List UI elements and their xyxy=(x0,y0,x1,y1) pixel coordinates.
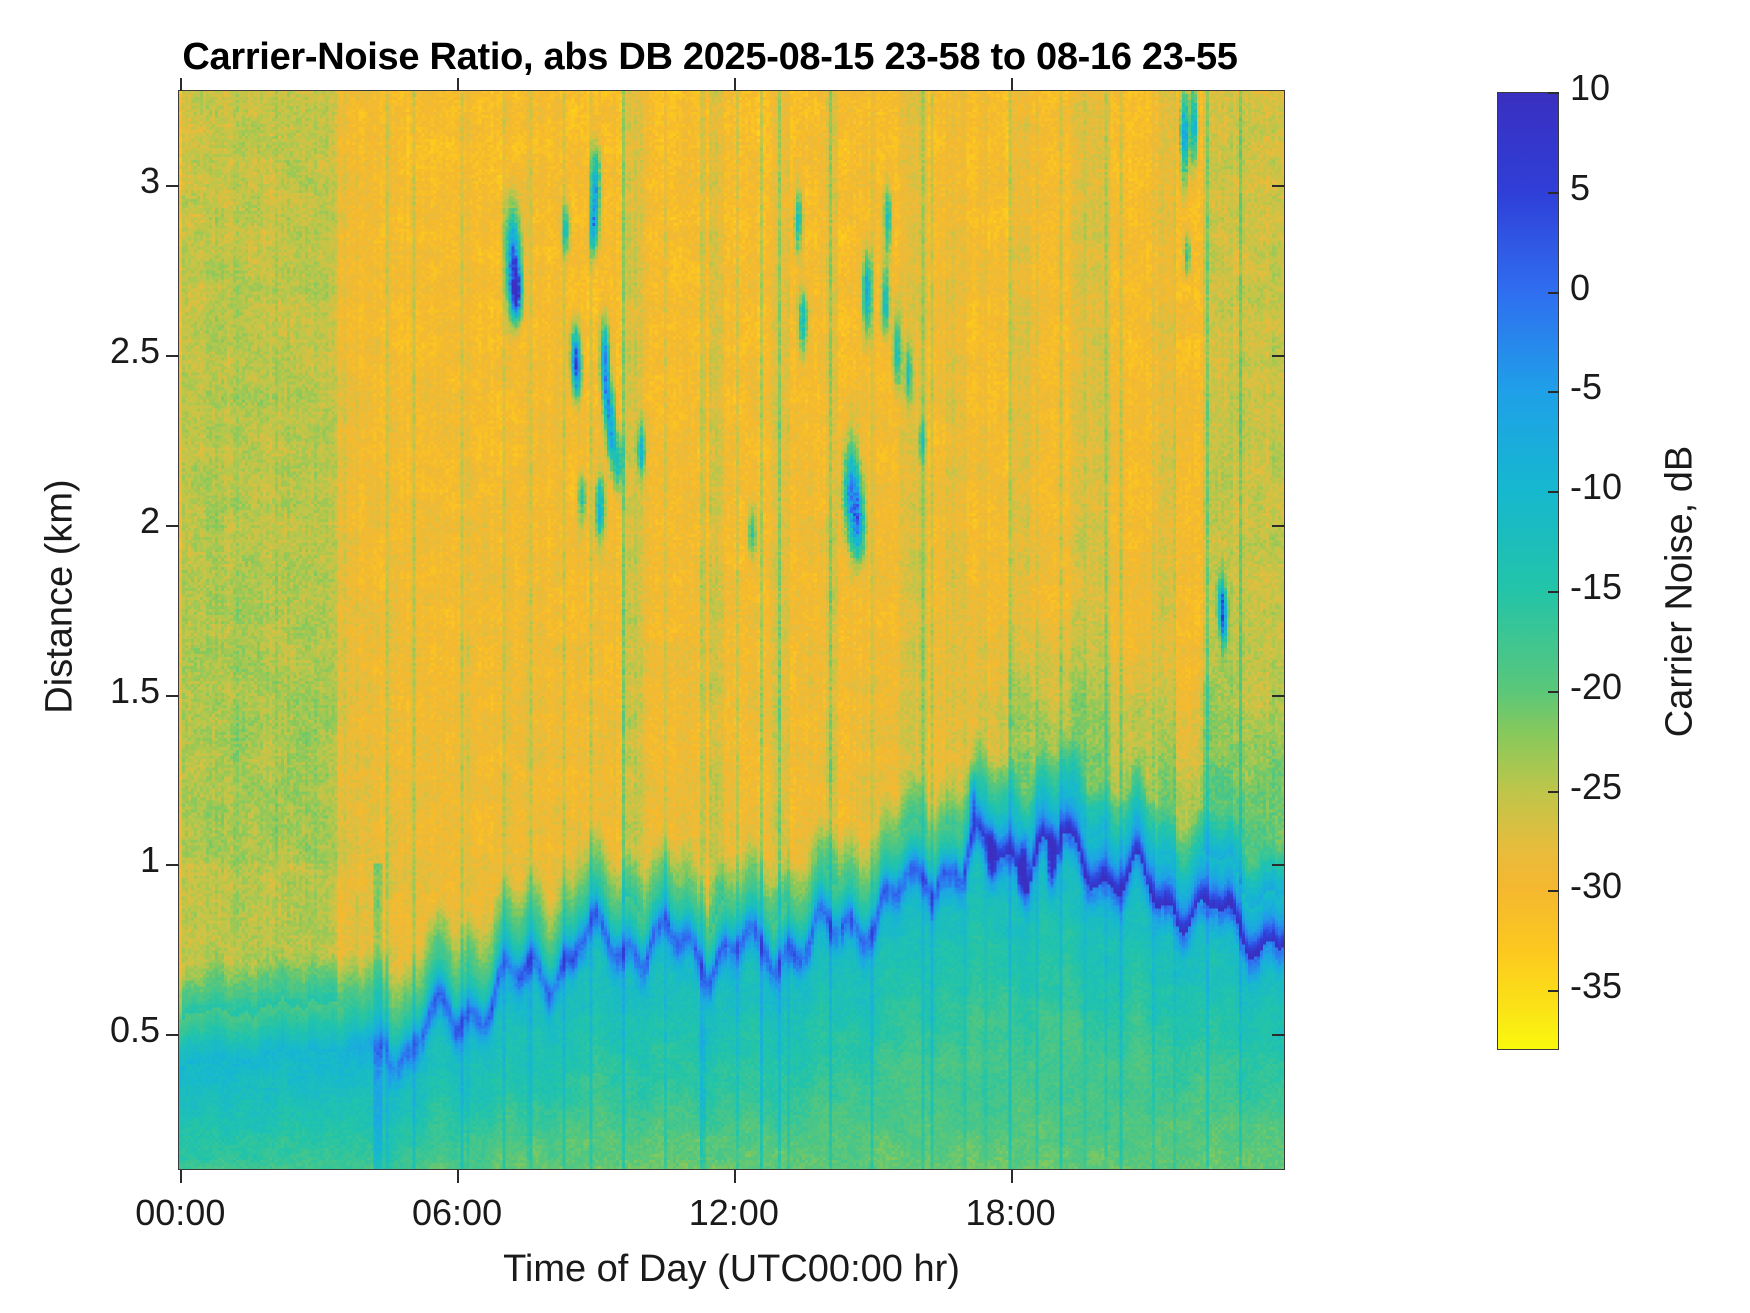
colorbar-tick-mark xyxy=(1548,192,1559,194)
colorbar-tick-label: -25 xyxy=(1570,766,1622,808)
x-tick-mark-top xyxy=(180,78,182,91)
colorbar-tick-label: -5 xyxy=(1570,366,1602,408)
colorbar-tick-mark xyxy=(1548,292,1559,294)
x-tick-mark-top xyxy=(1011,78,1013,91)
y-axis-label: Distance (km) xyxy=(39,317,82,877)
y-tick-mark-right xyxy=(1272,695,1285,697)
y-tick-mark-right xyxy=(1272,1034,1285,1036)
x-tick-label: 12:00 xyxy=(614,1192,854,1234)
y-tick-mark xyxy=(166,864,179,866)
colorbar-tick-mark xyxy=(1548,890,1559,892)
y-tick-mark xyxy=(166,525,179,527)
x-tick-mark-top xyxy=(457,78,459,91)
colorbar-tick-mark xyxy=(1548,391,1559,393)
colorbar-tick-label: -15 xyxy=(1570,566,1622,608)
colorbar-tick-label: 10 xyxy=(1570,67,1610,109)
chart-title: Carrier-Noise Ratio, abs DB 2025-08-15 2… xyxy=(0,36,1420,79)
colorbar-tick-mark xyxy=(1548,491,1559,493)
x-tick-mark xyxy=(180,1170,182,1183)
y-tick-mark xyxy=(166,1034,179,1036)
colorbar-tick-label: -30 xyxy=(1570,865,1622,907)
colorbar-tick-mark xyxy=(1548,691,1559,693)
heatmap-plot-area[interactable] xyxy=(178,90,1285,1170)
y-tick-mark xyxy=(166,355,179,357)
colorbar-tick-label: 0 xyxy=(1570,267,1590,309)
x-tick-mark-top xyxy=(734,78,736,91)
colorbar-tick-mark xyxy=(1548,791,1559,793)
y-tick-mark-right xyxy=(1272,185,1285,187)
x-tick-label: 00:00 xyxy=(60,1192,300,1234)
x-tick-mark xyxy=(734,1170,736,1183)
x-tick-mark xyxy=(1011,1170,1013,1183)
colorbar-tick-mark xyxy=(1548,92,1559,94)
y-tick-mark xyxy=(166,695,179,697)
y-tick-label: 3 xyxy=(40,160,160,202)
colorbar-tick-mark xyxy=(1548,990,1559,992)
colorbar-tick-label: 5 xyxy=(1570,167,1590,209)
y-tick-mark-right xyxy=(1272,864,1285,866)
colorbar-tick-label: -20 xyxy=(1570,666,1622,708)
colorbar-tick-label: -35 xyxy=(1570,965,1622,1007)
x-tick-label: 06:00 xyxy=(337,1192,577,1234)
colorbar-tick-mark xyxy=(1548,591,1559,593)
x-tick-label: 18:00 xyxy=(891,1192,1131,1234)
x-tick-mark xyxy=(457,1170,459,1183)
colorbar-tick-label: -10 xyxy=(1570,466,1622,508)
x-axis-label: Time of Day (UTC00:00 hr) xyxy=(178,1248,1285,1291)
y-tick-mark xyxy=(166,185,179,187)
heatmap-image xyxy=(179,91,1284,1169)
colorbar-gradient xyxy=(1498,93,1558,1049)
colorbar[interactable] xyxy=(1497,92,1559,1050)
y-tick-mark-right xyxy=(1272,355,1285,357)
colorbar-label: Carrier Noise, dB xyxy=(1659,312,1702,872)
figure-canvas: Carrier-Noise Ratio, abs DB 2025-08-15 2… xyxy=(0,0,1750,1313)
y-tick-label: 0.5 xyxy=(40,1009,160,1051)
y-tick-mark-right xyxy=(1272,525,1285,527)
